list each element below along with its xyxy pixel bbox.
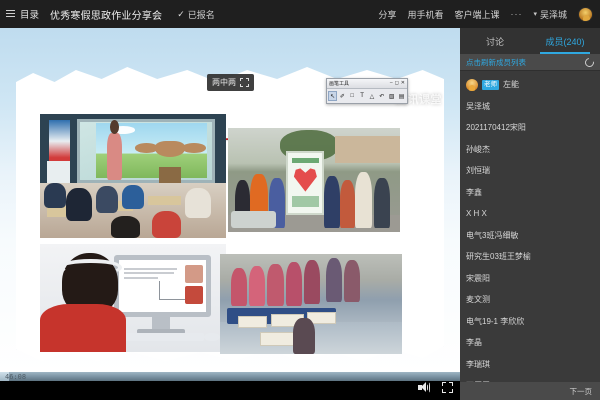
enrolled-label: 已报名 (188, 8, 215, 21)
brush-tool-palette[interactable]: 画笔工具 – ◻ ✕ ↖ ✐ □ T △ ↶ ▧ ▤ (326, 78, 408, 104)
list-item[interactable]: 2021170412宋阳 (460, 117, 600, 139)
member-name: 电气3班冯细敏 (466, 230, 518, 241)
list-item[interactable]: 李晶 (460, 332, 600, 354)
refresh-member-list-button[interactable]: 点击刷新成员列表 (460, 54, 600, 71)
side-panel: 讨论 成员(240) 点击刷新成员列表 老师 左能 吴泽城 2021170412… (460, 28, 600, 400)
video-stage[interactable]: 2012——2022 (0, 28, 460, 400)
clear-tool-icon[interactable]: ▤ (397, 91, 406, 101)
palette-window-buttons: – ◻ ✕ (390, 81, 405, 86)
palette-tool-row: ↖ ✐ □ T △ ↶ ▧ ▤ (327, 89, 407, 103)
panel-footer: 下一页 (460, 382, 600, 400)
catalog-button[interactable]: 目录 (20, 7, 39, 21)
refresh-icon[interactable] (583, 56, 596, 69)
page-title: 优秀寒假思政作业分享会 (50, 7, 162, 22)
list-item[interactable]: 电气3班冯细敏 (460, 225, 600, 247)
pen-tool-icon[interactable]: ✐ (338, 91, 347, 101)
refresh-label: 点击刷新成员列表 (466, 57, 526, 68)
fullscreen-icon[interactable] (442, 382, 453, 393)
palette-title-bar[interactable]: 画笔工具 – ◻ ✕ (327, 79, 407, 89)
list-item[interactable]: 万辰屏 (460, 375, 600, 382)
tencent-classroom-window: 目录 优秀寒假思政作业分享会 ✓ 已报名 分享 用手机看 客户端上课 ··· ▾… (0, 0, 600, 400)
member-name: 孙峻杰 (466, 144, 490, 155)
top-bar: 目录 优秀寒假思政作业分享会 ✓ 已报名 分享 用手机看 客户端上课 ··· ▾… (0, 0, 600, 28)
member-name: 李晶 (466, 337, 482, 348)
member-name: 吴泽城 (466, 101, 490, 112)
panel-tabs: 讨论 成员(240) (460, 28, 600, 54)
rect-tool-icon[interactable]: □ (348, 91, 357, 101)
member-name: 研究生03班王梦榆 (466, 251, 531, 262)
share-button[interactable]: 分享 (378, 8, 396, 21)
expand-icon[interactable] (240, 78, 249, 87)
more-options-button[interactable]: ··· (510, 9, 522, 19)
hamburger-icon[interactable] (6, 10, 15, 18)
user-menu[interactable]: ▾ 吴泽城 (533, 8, 567, 21)
member-name: 刘恒瑞 (466, 165, 490, 176)
list-item[interactable]: 李瑞琪 (460, 354, 600, 376)
tab-discussion[interactable]: 讨论 (460, 28, 530, 54)
undo-tool-icon[interactable]: ↶ (377, 91, 386, 101)
text-tool-icon[interactable]: T (358, 91, 367, 101)
list-item[interactable]: 研究生03班王梦榆 (460, 246, 600, 268)
avatar[interactable] (578, 7, 593, 22)
list-item[interactable]: 李鑫 (460, 182, 600, 204)
list-item[interactable]: 麦文测 (460, 289, 600, 311)
maximize-icon[interactable]: ◻ (395, 81, 399, 86)
member-name: 李鑫 (466, 187, 482, 198)
students-outdoor-banner-photo (228, 128, 400, 232)
top-bar-right: 分享 用手机看 客户端上课 ··· ▾ 吴泽城 (378, 7, 600, 22)
member-name: 李瑞琪 (466, 359, 490, 370)
online-learning-photo (40, 244, 226, 352)
tab-members-label: 成员(240) (545, 35, 584, 48)
member-name: 麦文测 (466, 294, 490, 305)
close-icon[interactable]: ✕ (401, 81, 405, 86)
tab-discussion-label: 讨论 (486, 35, 504, 48)
watch-on-phone-button[interactable]: 用手机看 (407, 8, 443, 21)
avatar (466, 79, 478, 91)
client-class-button[interactable]: 客户端上课 (454, 8, 499, 21)
player-controls-right (418, 382, 453, 393)
list-item[interactable]: 孙峻杰 (460, 139, 600, 161)
classroom-smartboard-photo (40, 114, 226, 238)
member-name: 电气19-1 李欣欣 (466, 316, 524, 327)
check-icon: ✓ (177, 9, 185, 20)
next-page-button[interactable]: 下一页 (570, 386, 593, 397)
layout-mode-label: 两中两 (212, 77, 236, 88)
status-badge: 老师 (482, 80, 499, 91)
seek-bar[interactable] (0, 372, 460, 381)
list-item[interactable]: 电气19-1 李欣欣 (460, 311, 600, 333)
students-books-donation-photo (220, 254, 402, 354)
player-bar: 46:08 (0, 372, 460, 400)
member-name: X H X (466, 209, 487, 218)
chevron-down-icon: ▾ (533, 10, 537, 18)
current-time: 46:08 (5, 373, 26, 381)
member-list[interactable]: 老师 左能 吴泽城 2021170412宋阳 孙峻杰 刘恒瑞 李鑫 X H X (460, 71, 600, 382)
list-item[interactable]: 老师 左能 (460, 74, 600, 96)
list-item[interactable]: X H X (460, 203, 600, 225)
enrolled-status: ✓ 已报名 (177, 8, 215, 21)
minimize-icon[interactable]: – (390, 81, 393, 86)
member-name: 宋震阳 (466, 273, 490, 284)
layout-mode-chip[interactable]: 两中两 (207, 74, 254, 91)
erase-tool-icon[interactable]: ▧ (387, 91, 396, 101)
top-bar-left: 目录 优秀寒假思政作业分享会 ✓ 已报名 (0, 7, 215, 22)
cursor-tool-icon[interactable]: ↖ (328, 91, 337, 101)
member-name: 左能 (503, 79, 519, 90)
list-item[interactable]: 吴泽城 (460, 96, 600, 118)
list-item[interactable]: 宋震阳 (460, 268, 600, 290)
tab-members[interactable]: 成员(240) (530, 28, 600, 54)
shape-tool-icon[interactable]: △ (368, 91, 377, 101)
member-name: 2021170412宋阳 (466, 122, 526, 133)
list-item[interactable]: 刘恒瑞 (460, 160, 600, 182)
user-name: 吴泽城 (540, 8, 567, 21)
volume-icon[interactable] (418, 382, 430, 393)
palette-title: 画笔工具 (329, 80, 349, 87)
